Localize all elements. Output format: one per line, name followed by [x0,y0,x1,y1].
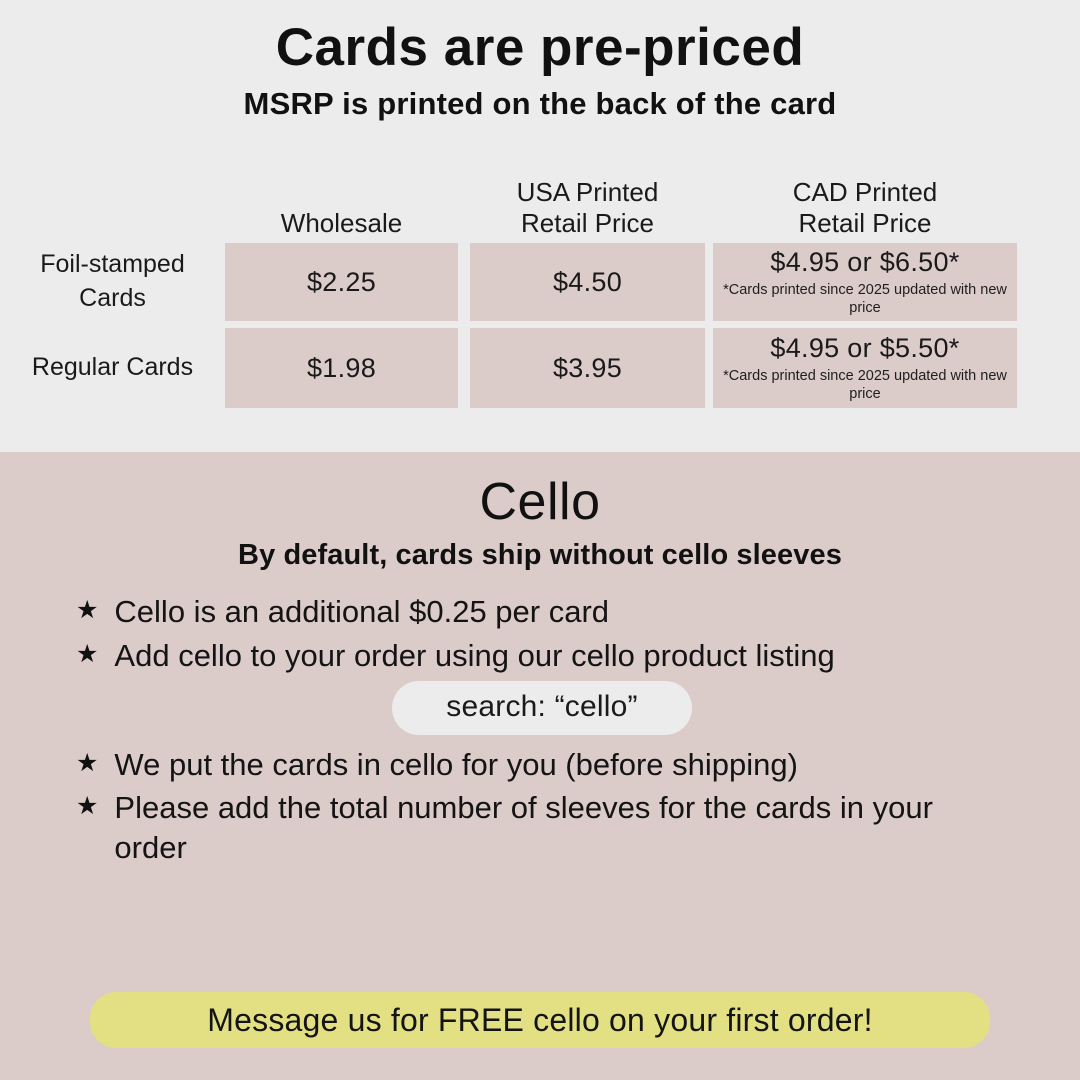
row-label-regular-line1: Regular Cards [32,351,193,385]
star-icon: ★ [76,636,98,674]
search-hint-pill[interactable]: search: “cello” [392,681,691,735]
page-subtitle: MSRP is printed on the back of the card [0,86,1080,122]
page-title: Cards are pre-priced [0,0,1080,80]
list-item: ★ Please add the total number of sleeves… [76,788,1008,867]
list-item-label: Please add the total number of sleeves f… [114,788,1008,867]
free-cello-cta-banner[interactable]: Message us for FREE cello on your first … [90,992,990,1048]
pricing-table: Wholesale USA Printed Retail Price CAD P… [0,165,1080,415]
cello-bullet-list: ★ Cello is an additional $0.25 per card … [0,592,1080,867]
star-icon: ★ [76,788,98,826]
cell-regular-wholesale-value: $1.98 [307,353,376,384]
column-header-usa-line1: USA Printed [517,177,659,208]
column-header-usa-line2: Retail Price [517,208,659,239]
cell-regular-usa-value: $3.95 [553,353,622,384]
pricing-section: Cards are pre-priced MSRP is printed on … [0,0,1080,452]
column-header-usa: USA Printed Retail Price [470,177,705,243]
cell-foil-wholesale-value: $2.25 [307,267,376,298]
cell-foil-wholesale: $2.25 [225,243,458,321]
search-hint-container: search: “cello” [76,681,1008,735]
cell-regular-cad-note: *Cards printed since 2025 updated with n… [713,368,1017,402]
column-header-wholesale: Wholesale [225,208,458,243]
row-label-foil-line1: Foil-stamped [40,248,185,282]
cell-foil-cad-retail: $4.95 or $6.50* *Cards printed since 202… [713,243,1017,321]
list-item: ★ Add cello to your order using our cell… [76,636,1008,675]
column-header-cad-line2: Retail Price [793,208,938,239]
cell-regular-wholesale: $1.98 [225,328,458,408]
row-label-foil-stamped: Foil-stamped Cards [0,243,225,321]
row-label-foil-line2: Cards [40,282,185,316]
list-item-label: We put the cards in cello for you (befor… [114,745,1008,784]
star-icon: ★ [76,745,98,783]
cello-title: Cello [0,452,1080,531]
cell-foil-usa-value: $4.50 [553,267,622,298]
cell-regular-usa-retail: $3.95 [470,328,705,408]
table-row: Regular Cards $1.98 $3.95 $4.95 or $5.50… [0,328,1080,408]
row-label-regular: Regular Cards [0,328,225,408]
cell-foil-cad-value: $4.95 or $6.50* [770,247,959,278]
cell-regular-cad-retail: $4.95 or $5.50* *Cards printed since 202… [713,328,1017,408]
star-icon: ★ [76,592,98,630]
cta-container: Message us for FREE cello on your first … [0,992,1080,1048]
infographic-page: Cards are pre-priced MSRP is printed on … [0,0,1080,1080]
cell-regular-cad-value: $4.95 or $5.50* [770,333,959,364]
list-item-label: Add cello to your order using our cello … [114,636,1008,675]
list-item-label: Cello is an additional $0.25 per card [114,592,1008,631]
cello-subtitle: By default, cards ship without cello sle… [0,539,1080,572]
cello-section: Cello By default, cards ship without cel… [0,452,1080,1080]
table-row: Foil-stamped Cards $2.25 $4.50 $4.95 or … [0,243,1080,321]
table-header-row: Wholesale USA Printed Retail Price CAD P… [0,165,1080,243]
column-header-wholesale-label: Wholesale [281,208,402,239]
column-header-cad-line1: CAD Printed [793,177,938,208]
list-item: ★ We put the cards in cello for you (bef… [76,745,1008,784]
cell-foil-usa-retail: $4.50 [470,243,705,321]
list-item: ★ Cello is an additional $0.25 per card [76,592,1008,631]
column-header-cad: CAD Printed Retail Price [713,177,1017,243]
cell-foil-cad-note: *Cards printed since 2025 updated with n… [713,282,1017,316]
